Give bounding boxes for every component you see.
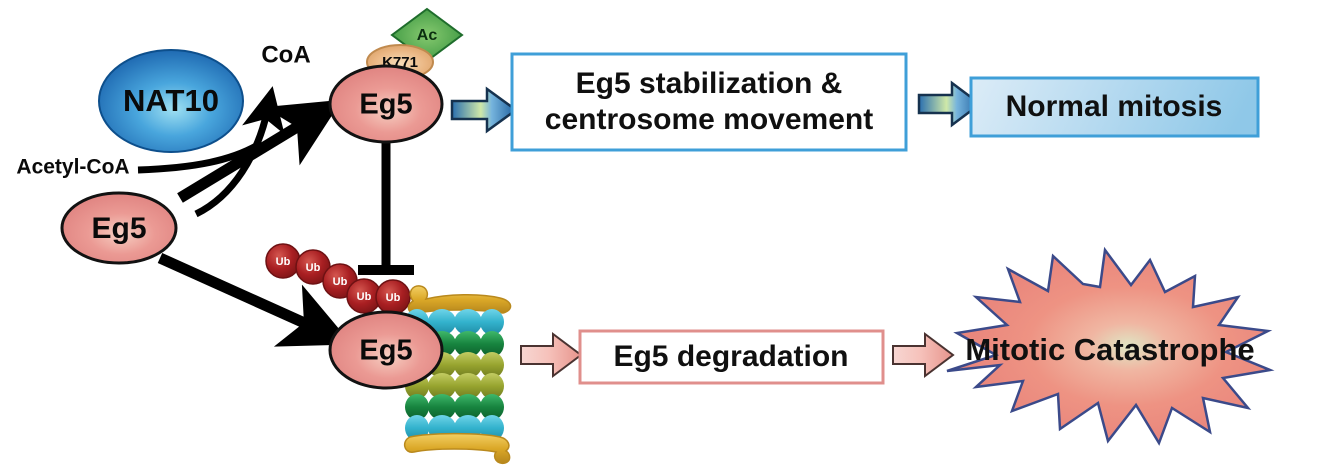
blue-arrow-to-stabilization (452, 89, 516, 131)
ub-unit: Ub (266, 244, 300, 278)
eg5-acetylated-label: Eg5 (359, 89, 412, 121)
nat10-label: NAT10 (123, 83, 219, 118)
pathway-diagram-canvas: NAT10 Acetyl-CoA CoA Eg5 Ac K771 Eg5 (0, 0, 1321, 469)
ub-label: Ub (386, 292, 401, 304)
pink-arrow-to-degradation (521, 334, 581, 376)
ub-label: Ub (357, 291, 372, 303)
pink-arrow-to-catastrophe (893, 334, 953, 376)
eg5-ubiquitinated-node[interactable]: Eg5 (330, 312, 442, 388)
blue-arrow-1-shape (452, 89, 516, 131)
inhibition-bar (358, 143, 414, 270)
ub-label: Ub (333, 276, 348, 288)
pink-arrow-2-shape (893, 334, 953, 376)
ub-label: Ub (276, 256, 291, 268)
eg5-acetylated-node[interactable]: Ac K771 Eg5 (330, 9, 462, 142)
degradation-box[interactable]: Eg5 degradation (580, 331, 883, 383)
pathway-diagram-svg: NAT10 Acetyl-CoA CoA Eg5 Ac K771 Eg5 (0, 0, 1321, 469)
nat10-node[interactable]: NAT10 (99, 50, 243, 152)
degradation-label: Eg5 degradation (613, 340, 848, 373)
mitotic-catastrophe-label: Mitotic Catastrophe (965, 332, 1254, 367)
eg5-substrate-label: Eg5 (91, 212, 146, 245)
proteasome-cap-bottom (405, 434, 510, 464)
eg5-substrate-node[interactable]: Eg5 (62, 193, 176, 263)
ac-label: Ac (417, 27, 438, 44)
acetyl-coa-label: Acetyl-CoA (16, 156, 129, 179)
ub-label: Ub (306, 262, 321, 274)
stabilization-box[interactable]: Eg5 stabilization & centrosome movement (512, 54, 906, 150)
ub-unit: Ub (376, 280, 410, 314)
pink-arrow-1-shape (521, 334, 581, 376)
stabilization-line-1: Eg5 stabilization & (576, 67, 843, 100)
normal-mitosis-box[interactable]: Normal mitosis (971, 78, 1258, 136)
proteasome-cap-top (408, 286, 510, 313)
stabilization-line-2: centrosome movement (545, 103, 873, 136)
coa-label: CoA (261, 41, 310, 68)
mitotic-catastrophe-burst[interactable]: Mitotic Catastrophe (947, 250, 1270, 443)
normal-mitosis-label: Normal mitosis (1006, 90, 1223, 123)
eg5-ubiquitinated-label: Eg5 (359, 335, 412, 367)
